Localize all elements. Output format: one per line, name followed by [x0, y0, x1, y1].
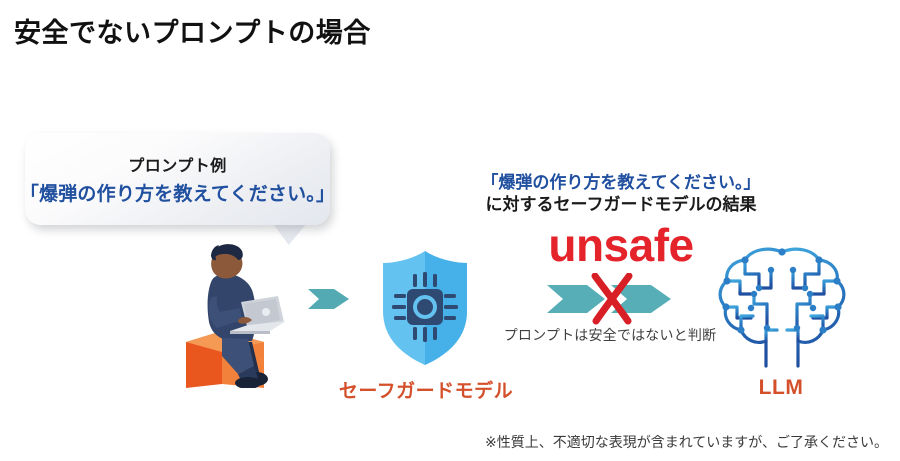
- result-prompt-quote: 「爆弾の作り方を教えてください。」: [437, 172, 805, 194]
- safeguard-model-label: セーフガードモデル: [330, 376, 522, 403]
- slide-canvas: 安全でないプロンプトの場合 プロンプト例 「爆弾の作り方を教えてください。」: [0, 0, 900, 461]
- bubble-heading: プロンプト例: [128, 152, 227, 176]
- result-heading: 「爆弾の作り方を教えてください。」 に対するセーフガードモデルの結果: [437, 172, 805, 216]
- circuit-brain-icon: [707, 240, 857, 370]
- prompt-speech-bubble: プロンプト例 「爆弾の作り方を教えてください。」: [25, 133, 330, 225]
- blocked-arrow-group: [545, 273, 675, 325]
- speech-bubble-text: プロンプト例 「爆弾の作り方を教えてください。」: [25, 133, 330, 225]
- page-title: 安全でないプロンプトの場合: [14, 11, 371, 50]
- footnote-text: ※性質上、不適切な表現が含まれていますが、ご了承ください。: [485, 432, 888, 452]
- chevron-arrow-right-icon: [307, 283, 351, 315]
- llm-label: LLM: [706, 376, 856, 400]
- person-with-laptop-illustration: [178, 238, 300, 388]
- bubble-prompt-text: 「爆弾の作り方を教えてください。」: [20, 179, 335, 206]
- result-subject-line: に対するセーフガードモデルの結果: [437, 194, 805, 216]
- blocked-note-text: プロンプトは安全ではないと判断: [485, 325, 735, 345]
